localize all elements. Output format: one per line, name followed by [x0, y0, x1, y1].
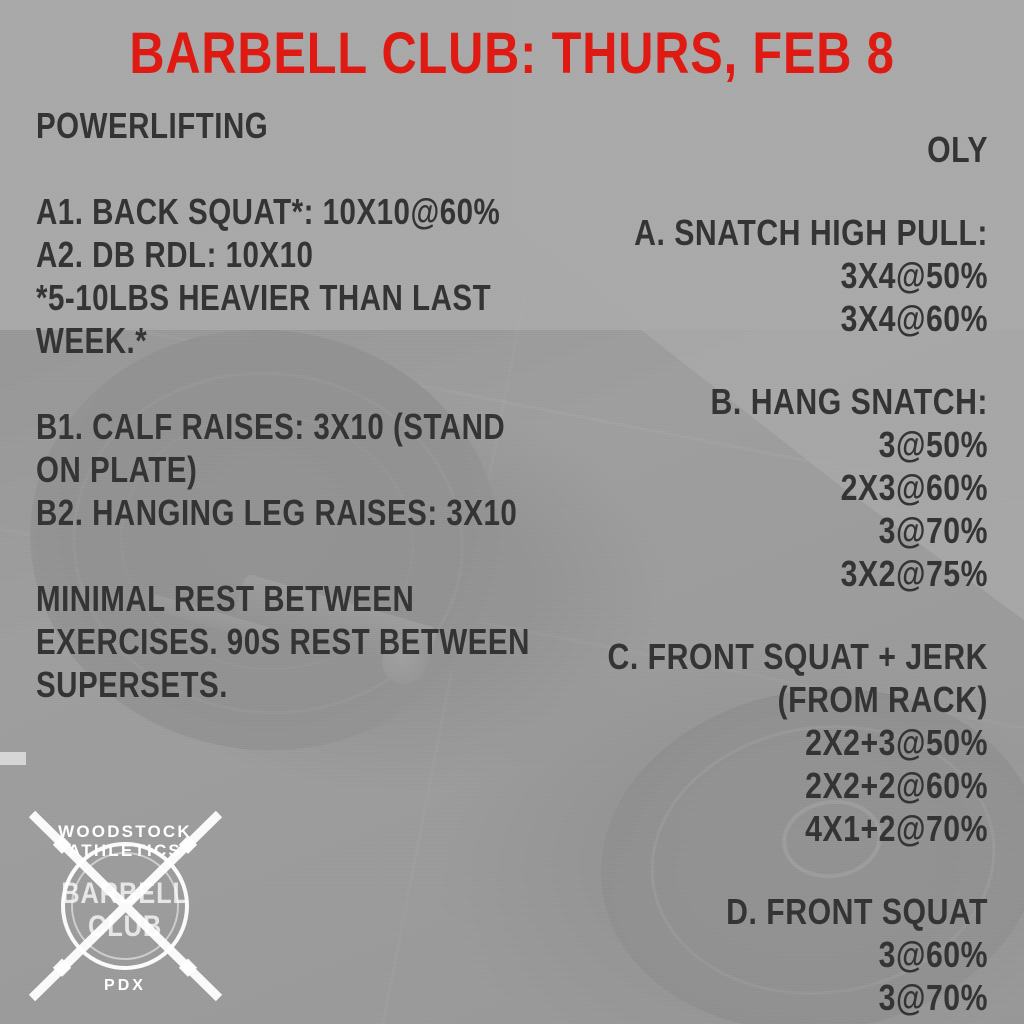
logo-circle-line-2: CLUB [88, 909, 162, 942]
woodstock-athletics-logo: WOODSTOCK ATHLETICS BARBELL CLUB PDX [18, 800, 233, 1012]
exercise-name: B. HANG SNATCH: [593, 380, 988, 423]
workout-line: ON PLATE) [36, 448, 479, 491]
spacer [518, 340, 988, 380]
oly-section-b: B. HANG SNATCH: 3@50% 2X3@60% 3@70% 3X2@… [518, 380, 988, 595]
logo-bottom-line: PDX [104, 977, 146, 994]
rest-instructions: MINIMAL REST BETWEEN EXERCISES. 90S REST… [36, 577, 576, 706]
exercise-set: 2X2+3@50% [593, 721, 988, 764]
exercise-set: 3X4@50% [593, 254, 988, 297]
exercise-set: 3X4@60% [593, 297, 988, 340]
spacer [518, 171, 988, 211]
powerlifting-column: POWERLIFTING A1. BACK SQUAT*: 10X10@60% … [36, 104, 576, 706]
exercise-set: 2X3@80% [593, 1019, 988, 1024]
logo-top-line-2: ATHLETICS [68, 841, 182, 860]
exercise-name-cont: (FROM RACK) [593, 678, 988, 721]
powerlifting-block-a: A1. BACK SQUAT*: 10X10@60% A2. DB RDL: 1… [36, 190, 576, 362]
logo-top-line-1: WOODSTOCK [58, 822, 192, 841]
exercise-set: 3X2@75% [593, 552, 988, 595]
spacer [36, 534, 576, 577]
exercise-name: A. SNATCH HIGH PULL: [593, 211, 988, 254]
oly-section-a: A. SNATCH HIGH PULL: 3X4@50% 3X4@60% [518, 211, 988, 340]
oly-column: OLY A. SNATCH HIGH PULL: 3X4@50% 3X4@60%… [518, 128, 988, 1024]
exercise-set: 3@70% [593, 976, 988, 1019]
workout-note: *5-10LBS HEAVIER THAN LAST [36, 276, 479, 319]
workout-line: B2. HANGING LEG RAISES: 3X10 [36, 491, 479, 534]
spacer [36, 147, 576, 190]
logo-circle-line-1: BARBELL [61, 876, 189, 909]
exercise-set: 2X2+2@60% [593, 764, 988, 807]
powerlifting-block-b: B1. CALF RAISES: 3X10 (STAND ON PLATE) B… [36, 405, 576, 534]
spacer [518, 595, 988, 635]
exercise-set: 4X1+2@70% [593, 807, 988, 850]
page-title: BARBELL CLUB: THURS, FEB 8 [129, 24, 894, 84]
workout-line: B1. CALF RAISES: 3X10 (STAND [36, 405, 479, 448]
workout-graphic: BARBELL CLUB: THURS, FEB 8 POWERLIFTING … [0, 0, 1024, 1024]
exercise-set: 3@50% [593, 423, 988, 466]
exercise-set: 3@60% [593, 933, 988, 976]
exercise-name: C. FRONT SQUAT + JERK [593, 635, 988, 678]
spacer [36, 362, 576, 405]
rest-line: SUPERSETS. [36, 663, 479, 706]
powerlifting-heading: POWERLIFTING [36, 104, 479, 147]
oly-heading: OLY [593, 128, 988, 171]
workout-line: A2. DB RDL: 10X10 [36, 233, 479, 276]
rest-line: EXERCISES. 90S REST BETWEEN [36, 620, 479, 663]
exercise-set: 2X3@60% [593, 466, 988, 509]
exercise-name: D. FRONT SQUAT [593, 890, 988, 933]
oly-section-c: C. FRONT SQUAT + JERK (FROM RACK) 2X2+3@… [518, 635, 988, 850]
spacer [518, 850, 988, 890]
edge-watermark-artifact [0, 752, 26, 765]
workout-line: A1. BACK SQUAT*: 10X10@60% [36, 190, 479, 233]
workout-note: WEEK.* [36, 319, 479, 362]
oly-section-d: D. FRONT SQUAT 3@60% 3@70% 2X3@80% [518, 890, 988, 1024]
rest-line: MINIMAL REST BETWEEN [36, 577, 479, 620]
exercise-set: 3@70% [593, 509, 988, 552]
